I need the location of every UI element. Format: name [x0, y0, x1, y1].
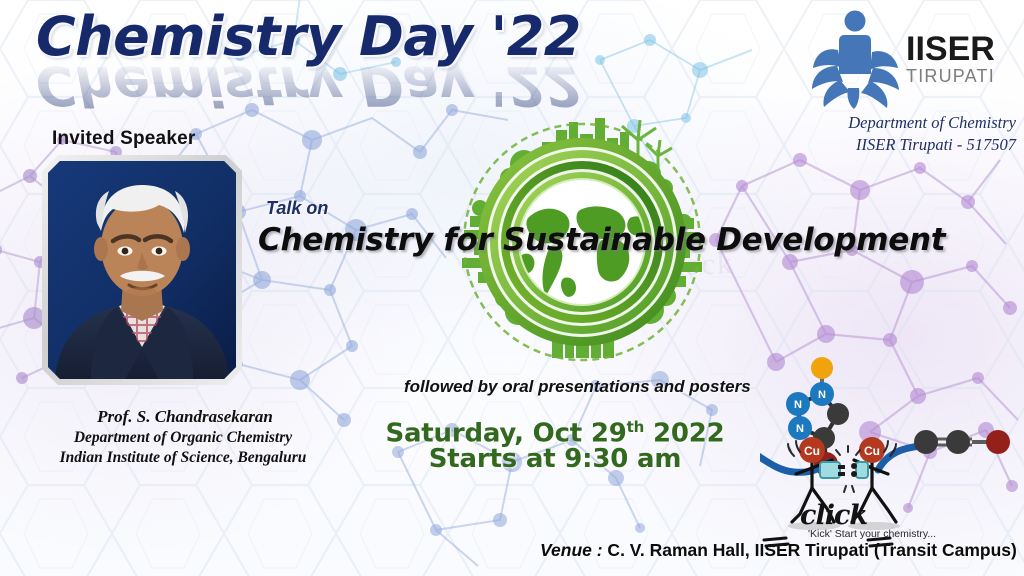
department-line: Department of Chemistry — [810, 112, 1016, 134]
institute-logo-block: IISER TIRUPATI Department of Chemistry I… — [810, 8, 1016, 157]
copper-label-right: Cu — [864, 444, 880, 458]
speaker-affiliation-institute: Indian Institute of Science, Bengaluru — [28, 450, 338, 466]
followed-by-note: followed by oral presentations and poste… — [404, 377, 751, 397]
event-time: Starts at 9:30 am — [330, 444, 780, 474]
speaker-portrait-illustration — [48, 161, 236, 379]
copper-label-left: Cu — [804, 444, 820, 458]
venue-label: Venue : — [540, 540, 603, 560]
poster-canvas: Shutterstock Chemistry Day '22 Chemistry… — [0, 0, 1024, 576]
talk-title: Chemistry for Sustainable Development — [258, 222, 918, 258]
page-title: Chemistry Day '22 — [36, 10, 581, 64]
event-date-ordinal: th — [627, 418, 644, 436]
speaker-name: Prof. S. Chandrasekaran — [40, 408, 330, 425]
plug-socket-icons — [820, 462, 868, 478]
institute-campus: TIRUPATI — [906, 67, 995, 85]
poster-title-block: Chemistry Day '22 Chemistry Day '22 — [36, 10, 581, 112]
alkyne-molecule — [914, 430, 1010, 454]
avatar — [48, 161, 236, 379]
speaker-affiliation-department: Department of Organic Chemistry — [28, 430, 338, 446]
atom-label-n: N — [818, 389, 826, 401]
talk-on-label: Talk on — [266, 198, 328, 219]
address-line: IISER Tirupati - 517507 — [810, 134, 1016, 156]
invited-speaker-label: Invited Speaker — [52, 128, 195, 150]
iiser-peacock-figure-icon — [810, 10, 902, 110]
atom-label-n: N — [796, 423, 804, 435]
atom-label-n: N — [794, 399, 802, 411]
speaker-photo-frame — [42, 155, 242, 385]
page-title-reflection: Chemistry Day '22 — [36, 58, 581, 112]
click-wordmark: click — [800, 500, 867, 531]
click-caption: 'Kick' Start your chemistry... — [808, 528, 936, 540]
institute-name: IISER — [906, 32, 995, 66]
